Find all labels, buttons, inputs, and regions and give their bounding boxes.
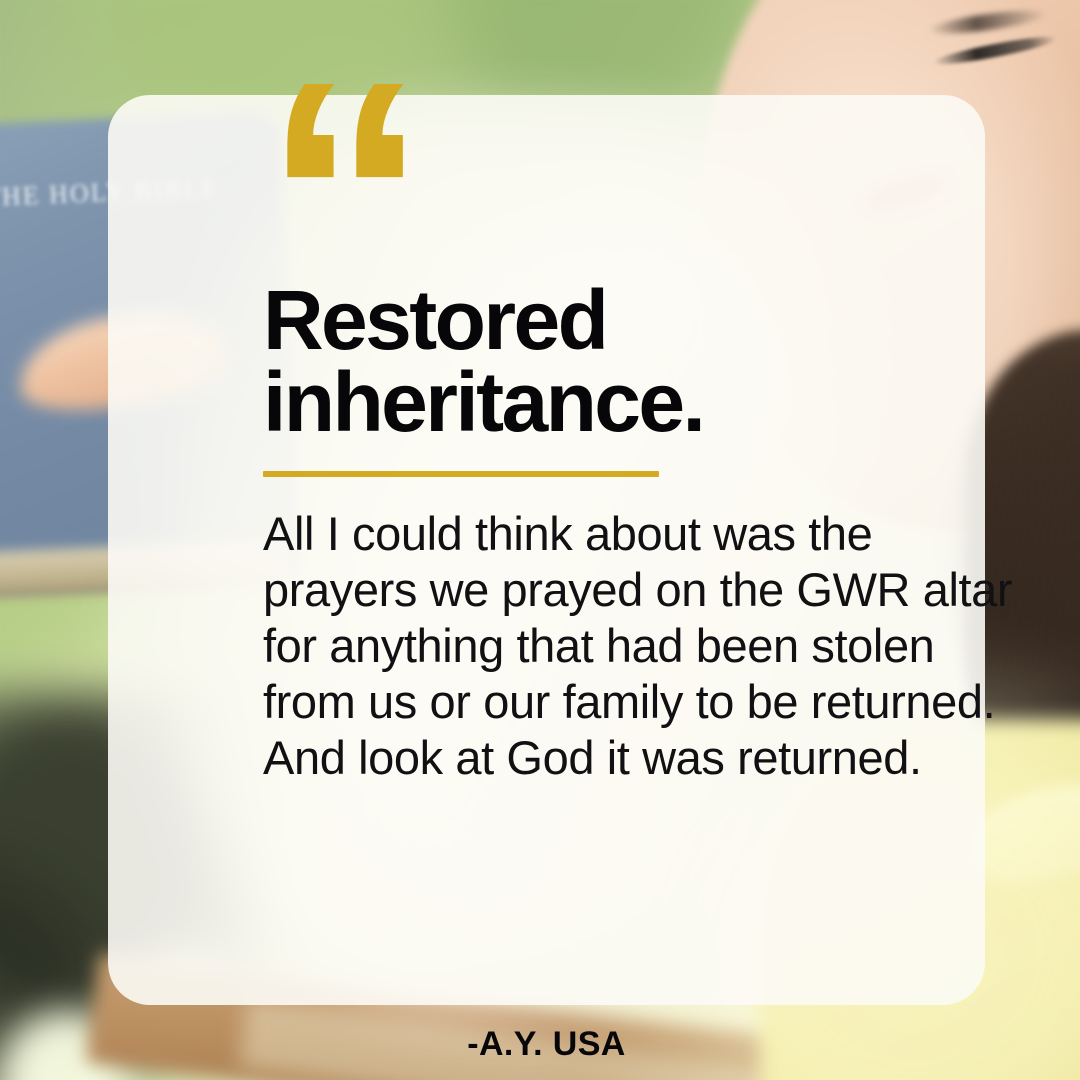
attribution-label: -A.Y. USA — [108, 1025, 985, 1064]
testimony-body: All I could think about was the prayers … — [263, 506, 1033, 786]
quote-card-inner: “ Restored inheritance. All I could thin… — [108, 95, 985, 1005]
quote-card: “ Restored inheritance. All I could thin… — [108, 95, 985, 1005]
quote-content: Restored inheritance. All I could think … — [263, 279, 1053, 833]
quote-graphic: THE HOLY BIBLE “ Restored inheritance. A… — [0, 0, 1080, 1080]
page-title: Restored inheritance. — [263, 279, 823, 444]
accent-divider — [263, 471, 659, 477]
